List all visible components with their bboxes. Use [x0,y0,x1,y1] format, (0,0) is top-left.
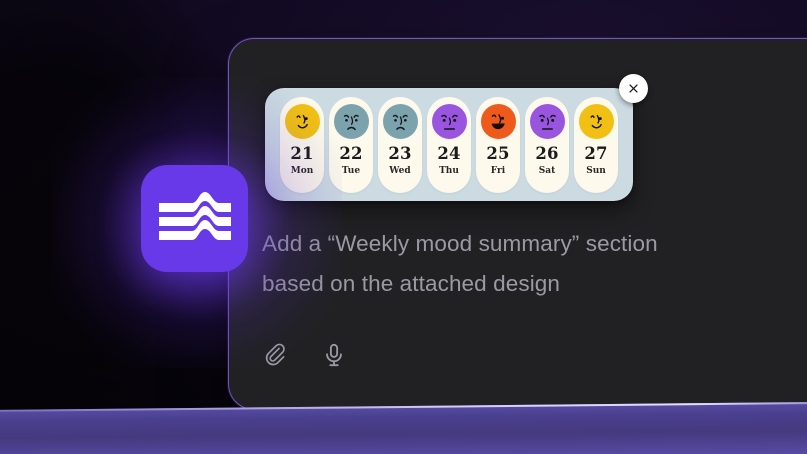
mood-day-pill[interactable]: 24Thu [427,97,471,193]
mood-day-number: 25 [486,146,509,163]
screenshot-root: 21Mon 22Tue 23Wed 24Thu 25Fri 26Sat [0,0,807,454]
bottom-purple-band [0,402,807,454]
face-neutral-icon [530,104,565,139]
face-sad-icon [383,104,418,139]
wavy-lines-logo-icon [158,189,232,249]
app-logo[interactable] [141,165,248,272]
mood-day-pill[interactable]: 27Sun [574,97,618,193]
mood-day-pill[interactable]: 23Wed [378,97,422,193]
mood-day-number: 27 [584,146,607,163]
face-sad-icon [334,104,369,139]
weekly-mood-summary-attachment[interactable]: 21Mon 22Tue 23Wed 24Thu 25Fri 26Sat [265,88,633,201]
mood-day-pill[interactable]: 26Sat [525,97,569,193]
mood-day-weekday: Fri [491,167,505,176]
close-icon [626,81,641,96]
mood-day-pill[interactable]: 22Tue [329,97,373,193]
mood-day-pill[interactable]: 21Mon [280,97,324,193]
microphone-icon [321,342,347,368]
mood-day-weekday: Tue [342,167,360,176]
face-neutral-icon [432,104,467,139]
composer-toolbar [262,340,349,370]
mood-day-weekday: Sun [586,167,606,176]
face-happy-icon [481,104,516,139]
mood-day-number: 21 [290,146,313,163]
prompt-line-1: Add a “Weekly mood summary” section [262,224,762,264]
mood-day-number: 23 [388,146,411,163]
prompt-line-2: based on the attached design [262,264,762,304]
mood-day-weekday: Thu [439,167,459,176]
mood-day-number: 22 [339,146,362,163]
mood-day-weekday: Wed [389,167,410,176]
close-attachment-button[interactable] [619,74,648,103]
mood-day-number: 26 [535,146,558,163]
voice-input-button[interactable] [319,340,349,370]
attach-file-button[interactable] [262,340,292,370]
mood-day-number: 24 [437,146,460,163]
paperclip-icon [264,342,290,368]
mood-day-pill[interactable]: 25Fri [476,97,520,193]
mood-day-weekday: Mon [291,167,314,176]
face-smile-icon [579,104,614,139]
prompt-text[interactable]: Add a “Weekly mood summary” section base… [262,224,762,304]
face-smile-icon [285,104,320,139]
mood-day-weekday: Sat [539,167,556,176]
